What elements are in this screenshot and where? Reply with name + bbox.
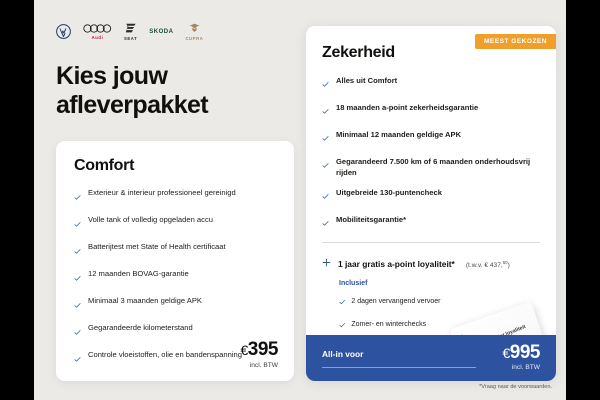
screenshot-stage: Audi SEAT SKODA CUPRA Kies jouw afleverp… [0,0,600,400]
feature-item: Minimaal 12 maanden geldige APK [322,129,540,147]
bar-rule [322,367,476,368]
feature-item: Uitgebreide 130-puntencheck [322,187,540,205]
loyalty-title: 1 jaar gratis a-point loyaliteit* [338,259,455,269]
seat-wordmark: SEAT [124,36,137,41]
check-icon [74,188,81,206]
seat-logo: SEAT [124,22,137,41]
package-card-comfort[interactable]: Comfort Exterieur & interieur profession… [56,141,294,381]
check-icon [322,102,329,120]
feature-item: Minimaal 3 maanden geldige APK [74,295,276,314]
zekerheid-price-block: €995 incl. BTW [503,342,541,371]
audi-logo: Audi [83,23,112,40]
skoda-wordmark: SKODA [149,29,173,35]
cupra-wordmark: CUPRA [185,36,203,41]
feature-label: Mobiliteitsgarantie* [336,214,406,225]
feature-item: Batterijtest met State of Health certifi… [74,241,276,260]
feature-label: Minimaal 12 maanden geldige APK [336,129,461,140]
section-divider [322,242,540,243]
feature-item: 12 maanden BOVAG-garantie [74,268,276,287]
feature-label: Controle vloeistoffen, olie en bandenspa… [88,349,242,360]
included-heading: Inclusief [339,280,540,287]
feature-label: 12 maanden BOVAG-garantie [88,268,189,279]
package-card-zekerheid[interactable]: MEEST GEKOZEN Zekerheid Alles uit Comfor… [306,26,556,381]
feature-label: Exterieur & interieur professioneel gere… [88,187,236,198]
check-icon [74,296,81,314]
price-amount: 995 [510,342,540,363]
comfort-price: €395 [241,339,279,361]
cupra-logo: CUPRA [185,23,203,41]
feature-label: Volle tank of volledig opgeladen accu [88,214,213,225]
comfort-price-note: incl. BTW [241,362,279,369]
feature-label: Uitgebreide 130-puntencheck [336,187,442,198]
audi-wordmark: Audi [92,35,104,40]
zekerheid-price-note: incl. BTW [503,364,541,371]
price-amount: 395 [248,339,278,360]
feature-label: Gegarandeerd 7.500 km of 6 maanden onder… [336,156,540,178]
allin-label: All-in voor [322,349,363,359]
check-icon [339,315,345,333]
page-title: Kies jouw afleverpakket [56,62,296,120]
check-icon [74,269,81,287]
zekerheid-price: €995 [503,342,541,363]
feature-label: 18 maanden a-point zekerheidsgarantie [336,102,478,113]
loyalty-row: 1 jaar gratis a-point loyaliteit* (t.w.v… [322,254,540,272]
zekerheid-body: Zekerheid Alles uit Comfort 18 maanden a… [306,26,556,379]
feature-item: Exterieur & interieur professioneel gere… [74,187,276,206]
comfort-price-block: €395 incl. BTW [241,339,279,369]
status-badge: MEEST GEKOZEN [475,34,556,49]
skoda-logo: SKODA [149,29,173,35]
comfort-title: Comfort [74,157,276,175]
feature-item: Mobiliteitsgarantie* [322,214,540,232]
currency-symbol: € [503,345,510,361]
check-icon [74,323,81,341]
check-icon [74,242,81,260]
check-icon [322,156,329,174]
feature-item: Gegarandeerd 7.500 km of 6 maanden onder… [322,156,540,178]
brand-logo-strip: Audi SEAT SKODA CUPRA [56,22,203,41]
check-icon [74,215,81,233]
plus-icon [322,254,331,272]
feature-label: Minimaal 3 maanden geldige APK [88,295,202,306]
feature-item: Volle tank of volledig opgeladen accu [74,214,276,233]
allin-price-bar: All-in voor €995 incl. BTW [306,335,556,381]
loyalty-value-suffix: ) [508,262,510,269]
feature-item: 18 maanden a-point zekerheidsgarantie [322,102,540,120]
list-item-label: Zomer- en winterchecks [351,321,426,328]
check-icon [322,187,329,205]
list-item: 2 dagen vervangend vervoer [339,292,540,310]
feature-label: Alles uit Comfort [336,75,397,86]
check-icon [74,350,81,368]
currency-symbol: € [241,342,248,358]
check-icon [322,129,329,147]
loyalty-value: (t.w.v. € 437,50) [466,260,510,269]
feature-label: Batterijtest met State of Health certifi… [88,241,226,252]
loyalty-value-prefix: (t.w.v. € 437, [466,262,503,269]
check-icon [322,75,329,93]
footnote: *Vraag naar de voorwaarden. [306,384,556,390]
list-item-label: 2 dagen vervangend vervoer [351,298,440,305]
check-icon [322,214,329,232]
vw-logo [56,24,71,39]
feature-label: Gegarandeerde kilometerstand [88,322,193,333]
check-icon [339,292,345,310]
page-canvas: Audi SEAT SKODA CUPRA Kies jouw afleverp… [34,0,566,400]
feature-item: Alles uit Comfort [322,75,540,93]
